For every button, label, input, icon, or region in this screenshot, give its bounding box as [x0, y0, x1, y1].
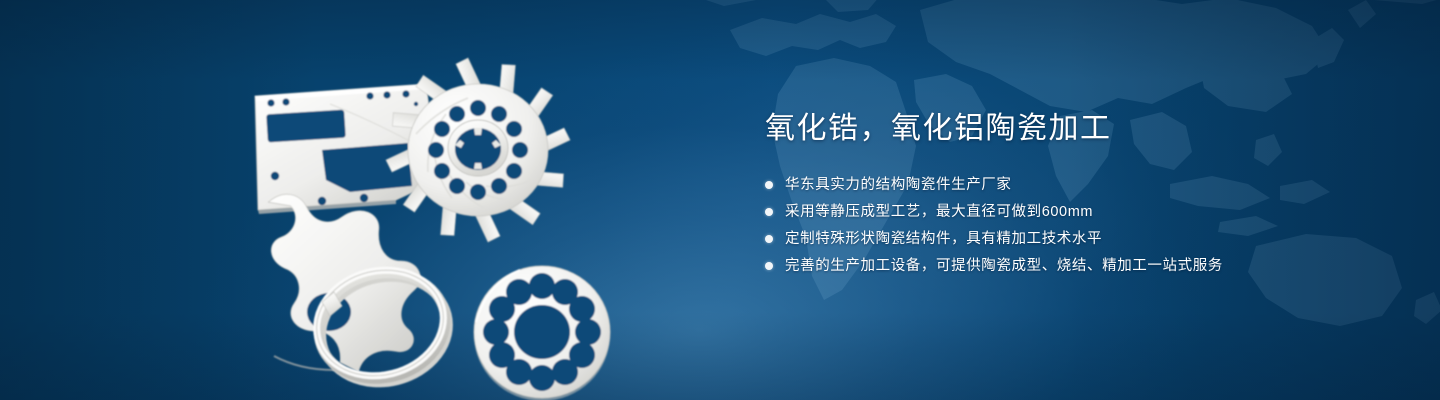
list-item: 华东具实力的结构陶瓷件生产厂家 [765, 176, 1325, 194]
promo-banner: 氧化锆，氧化铝陶瓷加工 华东具实力的结构陶瓷件生产厂家 采用等静压成型工艺，最大… [0, 0, 1440, 400]
ceramic-perforated-disc [474, 266, 610, 400]
feature-list: 华东具实力的结构陶瓷件生产厂家 采用等静压成型工艺，最大直径可做到600mm 定… [765, 176, 1325, 275]
list-item: 采用等静压成型工艺，最大直径可做到600mm [765, 203, 1325, 221]
feature-text: 华东具实力的结构陶瓷件生产厂家 [785, 176, 1012, 194]
ceramic-products-image [230, 40, 700, 380]
bullet-dot-icon [765, 208, 773, 216]
bullet-dot-icon [765, 262, 773, 270]
list-item: 定制特殊形状陶瓷结构件，具有精加工技术水平 [765, 230, 1325, 248]
list-item: 完善的生产加工设备，可提供陶瓷成型、烧结、精加工一站式服务 [765, 257, 1325, 275]
feature-text: 定制特殊形状陶瓷结构件，具有精加工技术水平 [785, 230, 1102, 248]
feature-text: 完善的生产加工设备，可提供陶瓷成型、烧结、精加工一站式服务 [785, 257, 1223, 275]
bullet-dot-icon [765, 235, 773, 243]
bullet-dot-icon [765, 181, 773, 189]
page-title: 氧化锆，氧化铝陶瓷加工 [765, 110, 1325, 148]
banner-text-column: 氧化锆，氧化铝陶瓷加工 华东具实力的结构陶瓷件生产厂家 采用等静压成型工艺，最大… [765, 110, 1325, 275]
feature-text: 采用等静压成型工艺，最大直径可做到600mm [785, 203, 1093, 221]
